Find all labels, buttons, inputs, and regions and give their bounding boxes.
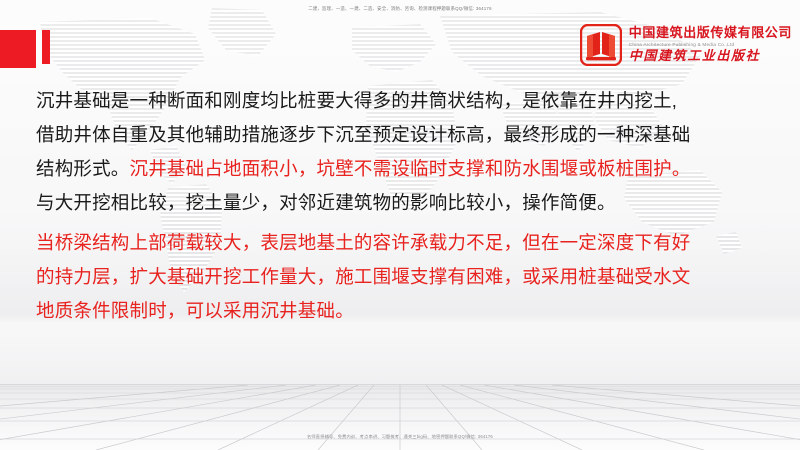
- text-segment: 与大开挖相比较，挖土量少，对邻近建筑物的影响比较小，操作简便。: [36, 192, 616, 213]
- text-segment: 借助井体自重及其他辅助措施逐步下沉至预定设计标高，最终形成的一种深基础: [36, 124, 691, 145]
- text-line: 当桥梁结构上部荷载较大，表层地基土的容许承载力不足，但在一定深度下有好: [36, 226, 776, 260]
- publisher-company-name-cn: 中国建筑出版传媒有限公司: [629, 25, 792, 40]
- slide-body-text: 沉井基础是一种断面和刚度均比桩要大得多的井筒状结构，是依靠在井内挖土, 借助井体…: [36, 84, 776, 328]
- publisher-brand: 中国建筑出版传媒有限公司 China Architecture Publishi…: [580, 24, 792, 66]
- footer-course-note: 名师直授辅导、免费内训、考点串讲、习题梳考、通关三big码、地密押题联系QQ/微…: [0, 433, 800, 440]
- text-segment-highlight: 当桥梁结构上部荷载较大，表层地基土的容许承载力不足，但在一定深度下有好: [36, 232, 691, 253]
- red-block-large: [0, 30, 36, 68]
- text-line: 沉井基础是一种断面和刚度均比桩要大得多的井筒状结构，是依靠在井内挖土,: [36, 84, 776, 118]
- text-segment: 沉井基础是一种断面和刚度均比桩要大得多的井筒状结构，是依靠在井内挖土,: [36, 90, 677, 111]
- text-segment-highlight: 地质条件限制时，可以采用沉井基础。: [36, 300, 354, 321]
- perspective-floor-grid: [0, 385, 800, 450]
- text-segment-highlight: 沉井基础占地面积小，坑壁不需设临时支撑和防水围堰或板桩围护。: [130, 158, 691, 179]
- open-book-logo-icon: [580, 24, 622, 66]
- publisher-imprint-name: 中国建筑工业出版社: [629, 49, 792, 65]
- text-line: 与大开挖相比较，挖土量少，对邻近建筑物的影响比较小，操作简便。: [36, 186, 776, 220]
- text-line: 结构形式。沉井基础占地面积小，坑壁不需设临时支撑和防水围堰或板桩围护。: [36, 152, 776, 186]
- wall-shading: [0, 330, 800, 385]
- text-line: 的持力层，扩大基础开挖工作量大，施工围堰支撑有困难，或采用桩基础受水文: [36, 260, 776, 294]
- text-segment-highlight: 的持力层，扩大基础开挖工作量大，施工围堰支撑有困难，或采用桩基础受水文: [36, 266, 691, 287]
- publisher-company-name-en: China Architecture Publishing & Media Co…: [629, 41, 792, 48]
- paragraph-1: 沉井基础是一种断面和刚度均比桩要大得多的井筒状结构，是依靠在井内挖土, 借助井体…: [36, 84, 776, 220]
- slide-canvas: 二建、监理、一造、一建、二造、安全、消防、咨询、检测课程押题联系QQ/微信: 3…: [0, 0, 800, 450]
- paragraph-2: 当桥梁结构上部荷载较大，表层地基土的容许承载力不足，但在一定深度下有好 的持力层…: [36, 226, 776, 328]
- red-decor-blocks: [0, 30, 50, 68]
- text-line: 地质条件限制时，可以采用沉井基础。: [36, 294, 776, 328]
- brand-text-block: 中国建筑出版传媒有限公司 China Architecture Publishi…: [629, 25, 792, 65]
- text-segment: 结构形式。: [36, 158, 130, 179]
- text-line: 借助井体自重及其他辅助措施逐步下沉至预定设计标高，最终形成的一种深基础: [36, 118, 776, 152]
- red-block-bar: [42, 30, 50, 64]
- course-info-note: 二建、监理、一造、一建、二造、安全、消防、咨询、检测课程押题联系QQ/微信: 3…: [0, 5, 800, 12]
